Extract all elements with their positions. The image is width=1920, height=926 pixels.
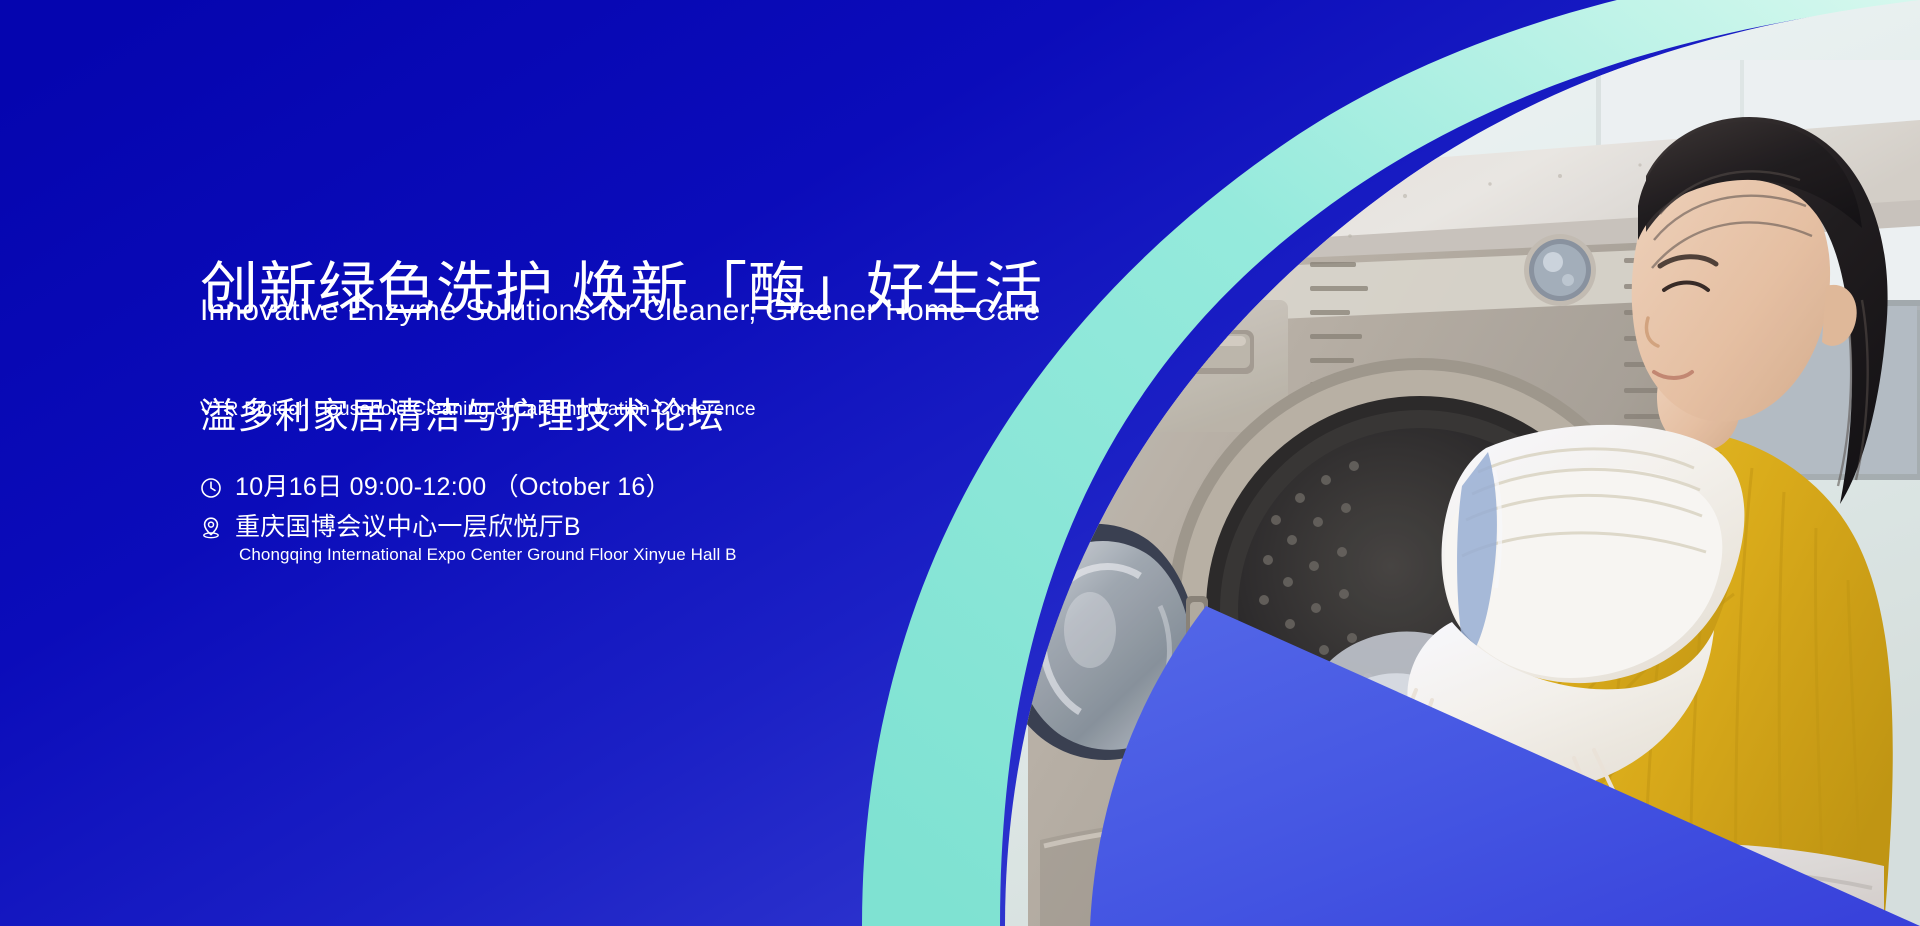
event-details: 10月16日 09:00-12:00 （October 16） 重庆国博会议中心… (200, 474, 1020, 567)
event-location-texts: 重庆国博会议中心一层欣悦厅B Chongqing International E… (235, 514, 737, 567)
event-location-primary: 重庆国博会议中心一层欣悦厅B (235, 514, 737, 540)
clock-icon (200, 474, 222, 500)
event-datetime-texts: 10月16日 09:00-12:00 （October 16） (235, 474, 671, 500)
event-datetime-primary: 10月16日 09:00-12:00 （October 16） (235, 474, 671, 500)
location-pin-icon (200, 514, 222, 540)
event-location-row: 重庆国博会议中心一层欣悦厅B Chongqing International E… (200, 514, 1020, 567)
banner-artwork (0, 0, 1920, 926)
conference-banner: 创新绿色洗护 焕新「酶」好生活 Innovative Enzyme Soluti… (0, 0, 1920, 926)
page-title-english: Innovative Enzyme Solutions for Cleaner,… (200, 296, 1040, 326)
conference-name-english: VTR Biotech Household Cleaning & Care In… (200, 400, 756, 419)
event-datetime-row: 10月16日 09:00-12:00 （October 16） (200, 474, 1020, 500)
event-location-secondary: Chongqing International Expo Center Grou… (239, 543, 737, 567)
